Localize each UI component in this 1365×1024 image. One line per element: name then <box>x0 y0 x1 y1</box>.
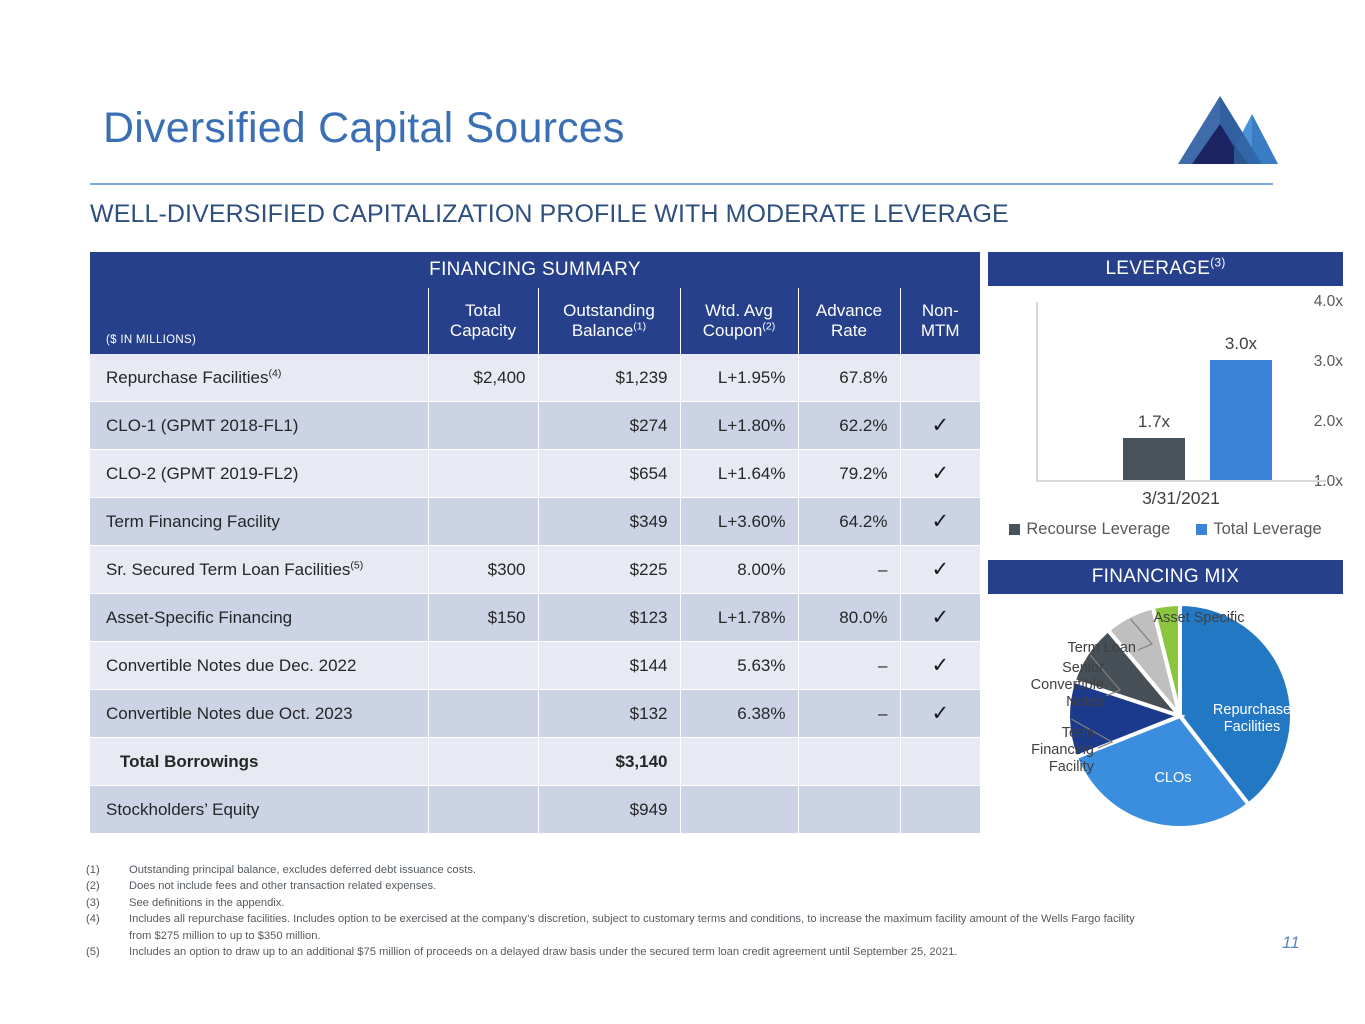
chart-y-axis <box>1036 302 1038 482</box>
leverage-banner: LEVERAGE(3) <box>988 252 1343 286</box>
footnote-number: (2) <box>86 878 129 894</box>
footnotes: (1)Outstanding principal balance, exclud… <box>86 862 1286 960</box>
cell-non-mtm: ✓ <box>900 498 980 546</box>
pie-label-clos: CLOs <box>1138 770 1208 787</box>
cell-outstanding-balance: $225 <box>538 546 680 594</box>
legend-swatch <box>1196 524 1207 535</box>
cell-outstanding-balance: $1,239 <box>538 354 680 402</box>
checkmark-icon: ✓ <box>931 558 949 581</box>
row-label: Asset-Specific Financing <box>90 594 428 642</box>
cell-non-mtm: ✓ <box>900 450 980 498</box>
leverage-bar-chart: 1.0x2.0x3.0x4.0x 1.7x3.0x 3/31/2021 Reco… <box>988 292 1343 554</box>
footnote-text: Includes all repurchase facilities. Incl… <box>129 911 1286 927</box>
table-row: Total Borrowings$3,140 <box>90 738 980 786</box>
cell-wtd-avg-coupon <box>680 738 798 786</box>
table-row: CLO-1 (GPMT 2018-FL1)$274L+1.80%62.2%✓ <box>90 402 980 450</box>
cell-total-capacity <box>428 690 538 738</box>
cell-total-capacity <box>428 498 538 546</box>
footnote-number: (3) <box>86 895 129 911</box>
cell-total-capacity <box>428 450 538 498</box>
cell-total-capacity: $150 <box>428 594 538 642</box>
financing-mix-banner: FINANCING MIX <box>988 560 1343 594</box>
cell-advance-rate: 79.2% <box>798 450 900 498</box>
footnote-number: (1) <box>86 862 129 878</box>
row-label: Stockholders’ Equity <box>90 786 428 834</box>
page-title: Diversified Capital Sources <box>103 104 625 153</box>
checkmark-icon: ✓ <box>931 606 949 629</box>
cell-wtd-avg-coupon: L+1.64% <box>680 450 798 498</box>
row-label: Repurchase Facilities(4) <box>90 354 428 402</box>
cell-wtd-avg-coupon: L+1.95% <box>680 354 798 402</box>
cell-total-capacity: $300 <box>428 546 538 594</box>
chart-x-axis <box>1036 480 1326 482</box>
cell-non-mtm <box>900 354 980 402</box>
checkmark-icon: ✓ <box>931 654 949 677</box>
cell-non-mtm: ✓ <box>900 594 980 642</box>
cell-advance-rate: 67.8% <box>798 354 900 402</box>
checkmark-icon: ✓ <box>931 510 949 533</box>
column-header-0: TotalCapacity <box>428 288 538 354</box>
table-row: Convertible Notes due Oct. 2023$1326.38%… <box>90 690 980 738</box>
cell-non-mtm: ✓ <box>900 690 980 738</box>
table-banner: FINANCING SUMMARY <box>90 252 980 288</box>
pie-label-repurchase-facilities: Repurchase Facilities <box>1202 702 1302 736</box>
checkmark-icon: ✓ <box>931 462 949 485</box>
cell-non-mtm <box>900 786 980 834</box>
table-row: Asset-Specific Financing$150$123L+1.78%8… <box>90 594 980 642</box>
cell-non-mtm <box>900 738 980 786</box>
pie-label-senior-convertible-notes: Senior Convertible Notes <box>994 660 1104 711</box>
cell-outstanding-balance: $3,140 <box>538 738 680 786</box>
footnote-item: (4)Includes all repurchase facilities. I… <box>86 911 1286 927</box>
mountain-logo <box>1178 92 1288 167</box>
financing-summary-table: FINANCING SUMMARY ($ IN MILLIONS) TotalC… <box>90 252 980 834</box>
footnote-text: Outstanding principal balance, excludes … <box>129 862 1286 878</box>
row-label: CLO-2 (GPMT 2019-FL2) <box>90 450 428 498</box>
cell-advance-rate: – <box>798 690 900 738</box>
cell-advance-rate: – <box>798 642 900 690</box>
cell-wtd-avg-coupon: L+3.60% <box>680 498 798 546</box>
page-subtitle: WELL-DIVERSIFIED CAPITALIZATION PROFILE … <box>90 200 1009 229</box>
table-row: Repurchase Facilities(4)$2,400$1,239L+1.… <box>90 354 980 402</box>
cell-advance-rate: 62.2% <box>798 402 900 450</box>
cell-non-mtm: ✓ <box>900 546 980 594</box>
bar-total-leverage <box>1210 360 1272 480</box>
cell-total-capacity <box>428 402 538 450</box>
row-label: Total Borrowings <box>90 738 428 786</box>
cell-total-capacity <box>428 738 538 786</box>
footnote-text: Includes an option to draw up to an addi… <box>129 944 1286 960</box>
cell-total-capacity: $2,400 <box>428 354 538 402</box>
cell-advance-rate <box>798 738 900 786</box>
leverage-banner-sup: (3) <box>1210 257 1225 270</box>
row-label: Term Financing Facility <box>90 498 428 546</box>
cell-wtd-avg-coupon: 8.00% <box>680 546 798 594</box>
cell-non-mtm: ✓ <box>900 642 980 690</box>
footnote-continuation: from $275 million to up to $350 million. <box>129 928 1286 944</box>
column-header-3: AdvanceRate <box>798 288 900 354</box>
footnote-item: (5)Includes an option to draw up to an a… <box>86 944 1286 960</box>
pie-label-asset-specific: Asset Specific <box>1140 610 1258 627</box>
row-label: Sr. Secured Term Loan Facilities(5) <box>90 546 428 594</box>
bar-value-label: 3.0x <box>1225 334 1257 354</box>
cell-wtd-avg-coupon <box>680 786 798 834</box>
cell-outstanding-balance: $144 <box>538 642 680 690</box>
cell-advance-rate: 64.2% <box>798 498 900 546</box>
pie-label-term-financing-facility: Term Financing Facility <box>994 725 1094 776</box>
leverage-x-label: 3/31/2021 <box>1036 488 1326 509</box>
table-units-label: ($ IN MILLIONS) <box>90 288 428 354</box>
cell-outstanding-balance: $949 <box>538 786 680 834</box>
table-row: Convertible Notes due Dec. 2022$1445.63%… <box>90 642 980 690</box>
table-row: Sr. Secured Term Loan Facilities(5)$300$… <box>90 546 980 594</box>
cell-outstanding-balance: $123 <box>538 594 680 642</box>
row-label: Convertible Notes due Oct. 2023 <box>90 690 428 738</box>
cell-wtd-avg-coupon: 6.38% <box>680 690 798 738</box>
footnote-number: (4) <box>86 911 129 927</box>
cell-wtd-avg-coupon: L+1.80% <box>680 402 798 450</box>
legend-item: Recourse Leverage <box>1009 520 1170 539</box>
cell-total-capacity <box>428 786 538 834</box>
bar-recourse-leverage <box>1123 438 1185 480</box>
legend-label: Total Leverage <box>1213 520 1321 539</box>
financing-mix-pie-chart: Repurchase FacilitiesCLOsTerm Financing … <box>988 598 1343 838</box>
footnote-item: (3)See definitions in the appendix. <box>86 895 1286 911</box>
cell-outstanding-balance: $654 <box>538 450 680 498</box>
column-header-2: Wtd. AvgCoupon(2) <box>680 288 798 354</box>
checkmark-icon: ✓ <box>931 702 949 725</box>
legend-label: Recourse Leverage <box>1026 520 1170 539</box>
leverage-banner-text: LEVERAGE <box>1105 258 1210 279</box>
page-number: 11 <box>1282 933 1300 953</box>
cell-wtd-avg-coupon: 5.63% <box>680 642 798 690</box>
footnote-number: (5) <box>86 944 129 960</box>
cell-non-mtm: ✓ <box>900 402 980 450</box>
legend-item: Total Leverage <box>1196 520 1321 539</box>
cell-outstanding-balance: $349 <box>538 498 680 546</box>
leverage-legend: Recourse LeverageTotal Leverage <box>988 520 1343 539</box>
footnote-text: Does not include fees and other transact… <box>129 878 1286 894</box>
table-row: Stockholders’ Equity$949 <box>90 786 980 834</box>
checkmark-icon: ✓ <box>931 414 949 437</box>
pie-label-term-loan: Term Loan <box>1024 640 1136 657</box>
cell-wtd-avg-coupon: L+1.78% <box>680 594 798 642</box>
footnote-text: See definitions in the appendix. <box>129 895 1286 911</box>
cell-outstanding-balance: $274 <box>538 402 680 450</box>
column-header-1: OutstandingBalance(1) <box>538 288 680 354</box>
cell-advance-rate <box>798 786 900 834</box>
table-row: Term Financing Facility$349L+3.60%64.2%✓ <box>90 498 980 546</box>
column-header-4: Non-MTM <box>900 288 980 354</box>
row-label: Convertible Notes due Dec. 2022 <box>90 642 428 690</box>
cell-advance-rate: 80.0% <box>798 594 900 642</box>
cell-outstanding-balance: $132 <box>538 690 680 738</box>
legend-swatch <box>1009 524 1020 535</box>
cell-total-capacity <box>428 642 538 690</box>
cell-advance-rate: – <box>798 546 900 594</box>
footnote-item: (1)Outstanding principal balance, exclud… <box>86 862 1286 878</box>
table-row: CLO-2 (GPMT 2019-FL2)$654L+1.64%79.2%✓ <box>90 450 980 498</box>
row-label: CLO-1 (GPMT 2018-FL1) <box>90 402 428 450</box>
footnote-item: (2)Does not include fees and other trans… <box>86 878 1286 894</box>
bar-value-label: 1.7x <box>1138 412 1170 432</box>
title-divider <box>90 183 1273 185</box>
